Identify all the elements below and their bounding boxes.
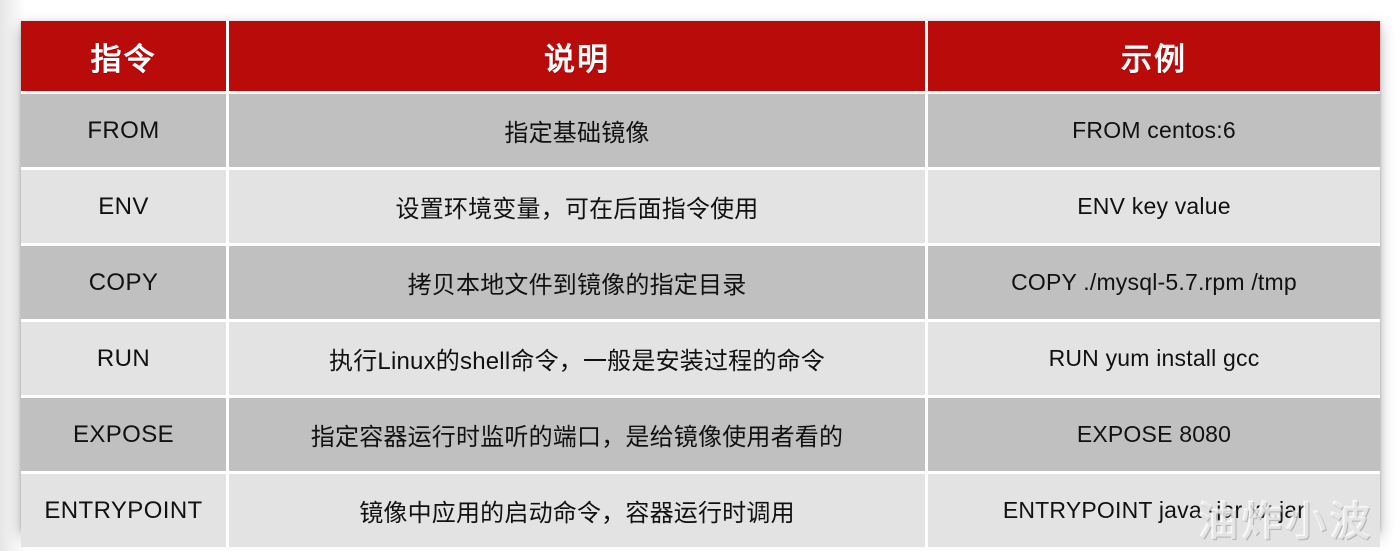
cell-command: COPY [21, 246, 229, 322]
column-header-description: 说明 [229, 21, 928, 94]
table-header-row: 指令 说明 示例 [21, 21, 1380, 94]
table-row: EXPOSE 指定容器运行时监听的端口，是给镜像使用者看的 EXPOSE 808… [21, 398, 1380, 474]
cell-command: RUN [21, 322, 229, 398]
cell-example: ENV key value [928, 170, 1380, 246]
cell-command: FROM [21, 94, 229, 170]
cell-description: 指定基础镜像 [229, 94, 928, 170]
table-row: COPY 拷贝本地文件到镜像的指定目录 COPY ./mysql-5.7.rpm… [21, 246, 1380, 322]
column-header-example: 示例 [928, 21, 1380, 94]
cell-command: ENV [21, 170, 229, 246]
cell-command: EXPOSE [21, 398, 229, 474]
cell-description: 镜像中应用的启动命令，容器运行时调用 [229, 474, 928, 547]
cell-description: 执行Linux的shell命令，一般是安装过程的命令 [229, 322, 928, 398]
cell-description: 指定容器运行时监听的端口，是给镜像使用者看的 [229, 398, 928, 474]
dockerfile-instructions-table: 指令 说明 示例 FROM 指定基础镜像 FROM centos:6 ENV 设… [21, 21, 1380, 547]
cell-example: ENTRYPOINT java -jar xx.jar [928, 474, 1380, 547]
cell-command: ENTRYPOINT [21, 474, 229, 547]
column-header-command: 指令 [21, 21, 229, 94]
table-body: FROM 指定基础镜像 FROM centos:6 ENV 设置环境变量，可在后… [21, 94, 1380, 547]
table-row: RUN 执行Linux的shell命令，一般是安装过程的命令 RUN yum i… [21, 322, 1380, 398]
cell-example: FROM centos:6 [928, 94, 1380, 170]
cell-description: 设置环境变量，可在后面指令使用 [229, 170, 928, 246]
table-row: FROM 指定基础镜像 FROM centos:6 [21, 94, 1380, 170]
table-header: 指令 说明 示例 [21, 21, 1380, 94]
cell-description: 拷贝本地文件到镜像的指定目录 [229, 246, 928, 322]
cell-example: EXPOSE 8080 [928, 398, 1380, 474]
cell-example: COPY ./mysql-5.7.rpm /tmp [928, 246, 1380, 322]
table-row: ENV 设置环境变量，可在后面指令使用 ENV key value [21, 170, 1380, 246]
cell-example: RUN yum install gcc [928, 322, 1380, 398]
table-row: ENTRYPOINT 镜像中应用的启动命令，容器运行时调用 ENTRYPOINT… [21, 474, 1380, 547]
